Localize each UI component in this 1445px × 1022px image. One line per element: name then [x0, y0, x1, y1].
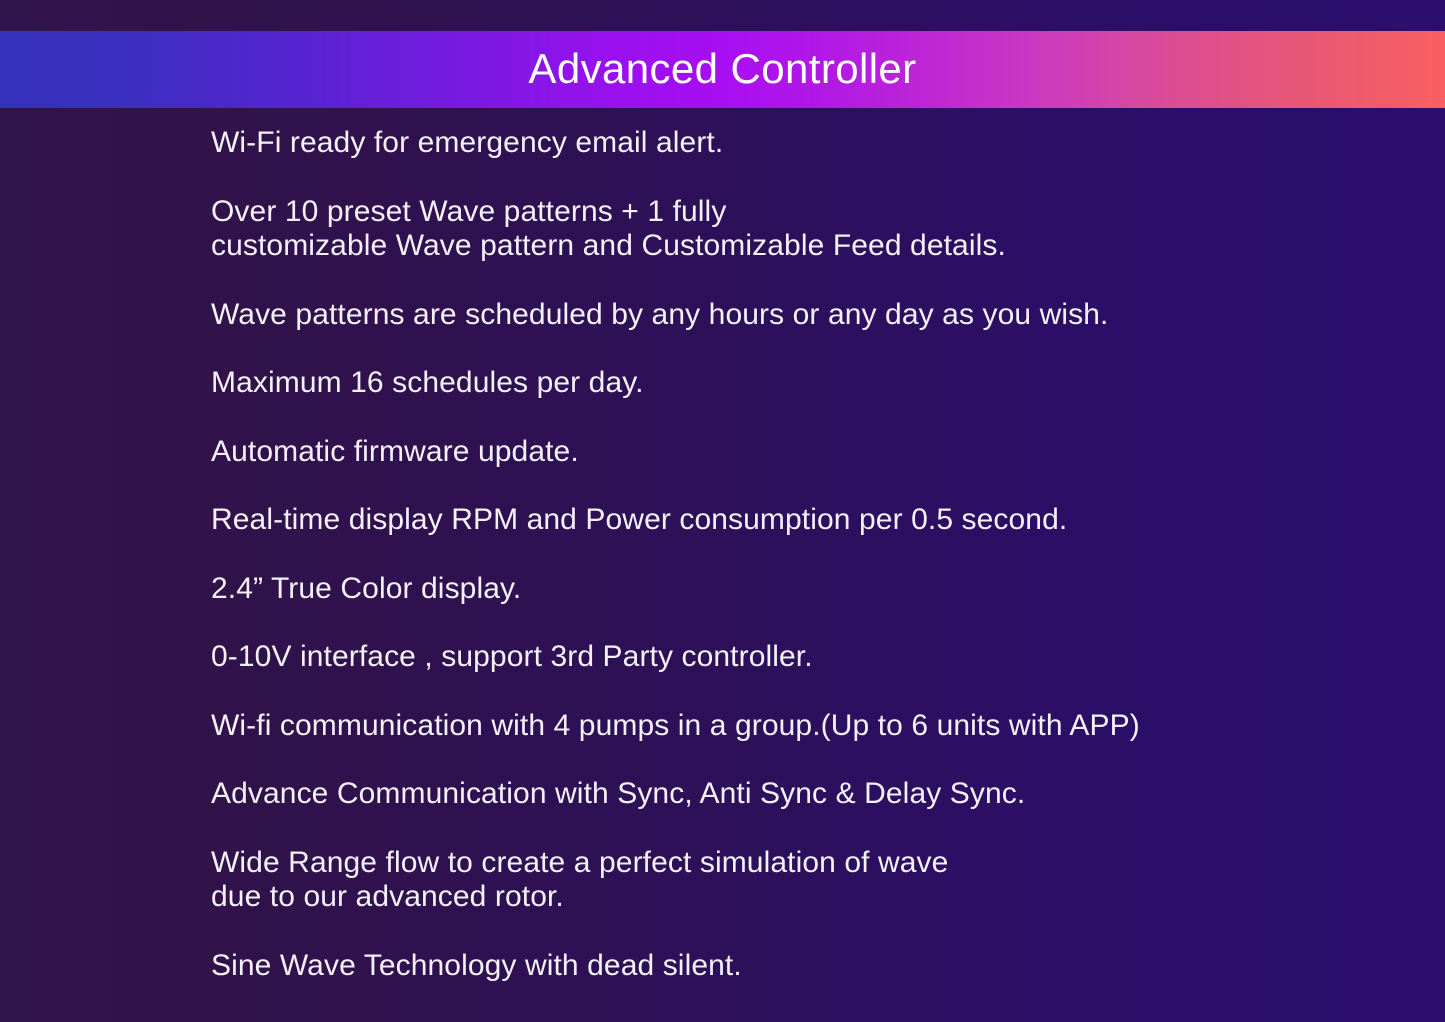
list-item: Wave patterns are scheduled by any hours… [211, 298, 1361, 333]
list-item: Wi-fi communication with 4 pumps in a gr… [211, 709, 1361, 744]
page-title: Advanced Controller [528, 48, 916, 90]
list-item: 0-10V interface , support 3rd Party cont… [211, 640, 1361, 675]
list-item: Automatic firmware update. [211, 435, 1361, 470]
feature-list: Wi-Fi ready for emergency email alert. O… [211, 126, 1361, 983]
list-item: Advance Communication with Sync, Anti Sy… [211, 777, 1361, 812]
product-feature-slide: Advanced Controller Wi-Fi ready for emer… [0, 0, 1445, 1022]
list-item: Maximum 16 schedules per day. [211, 366, 1361, 401]
list-item: Real-time display RPM and Power consumpt… [211, 503, 1361, 538]
list-item: Over 10 preset Wave patterns + 1 fully c… [211, 195, 1361, 264]
header-banner: Advanced Controller [0, 31, 1445, 108]
list-item: Wi-Fi ready for emergency email alert. [211, 126, 1361, 161]
list-item: Sine Wave Technology with dead silent. [211, 949, 1361, 984]
list-item: 2.4” True Color display. [211, 572, 1361, 607]
list-item: Wide Range flow to create a perfect simu… [211, 846, 1361, 915]
